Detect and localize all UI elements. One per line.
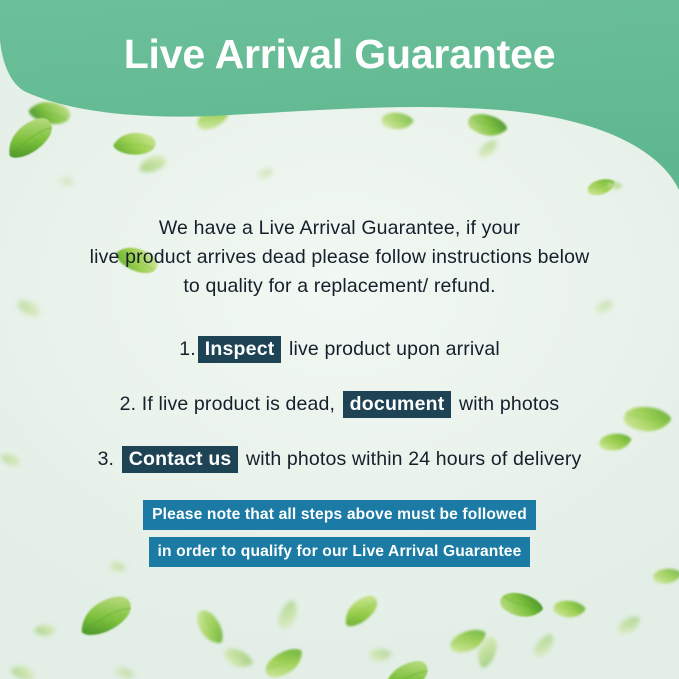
note-line-1: Please note that all steps above must be…	[143, 500, 536, 530]
note-line-2: in order to qualify for our Live Arrival…	[149, 537, 531, 567]
leaf-icon	[462, 104, 511, 145]
leaf-icon	[24, 90, 77, 137]
leaf-icon	[137, 152, 169, 176]
step-item-2: 2. If live product is dead, document wit…	[0, 377, 679, 432]
leaf-icon	[640, 119, 659, 133]
step-pre-2: If live product is dead,	[136, 393, 340, 416]
leaf-icon	[474, 136, 503, 162]
leaf-icon	[468, 631, 506, 672]
leaf-icon	[605, 178, 624, 194]
steps-list: 1. Inspect live product upon arrival 2. …	[0, 322, 679, 487]
intro-line-3: to quality for a replacement/ refund.	[70, 272, 609, 301]
step-item-1: 1. Inspect live product upon arrival	[0, 322, 679, 377]
step-number-3: 3.	[98, 448, 115, 471]
leaf-icon	[71, 587, 141, 645]
step-item-3: 3. Contact us with photos within 24 hour…	[0, 432, 679, 487]
leaf-icon	[7, 659, 39, 679]
leaf-icon	[191, 98, 237, 135]
intro-paragraph: We have a Live Arrival Guarantee, if you…	[0, 214, 679, 301]
note-banner: Please note that all steps above must be…	[0, 500, 679, 567]
step-post-1: live product upon arrival	[283, 338, 499, 361]
leaf-icon	[494, 582, 548, 629]
step-post-3: with photos within 24 hours of delivery	[240, 448, 581, 471]
leaf-icon	[255, 167, 275, 182]
leaf-icon	[585, 177, 616, 198]
live-arrival-guarantee-graphic: Live Arrival Guarantee We have a Live Ar…	[0, 0, 679, 679]
leaf-icon	[375, 652, 436, 679]
leaf-icon	[527, 629, 561, 662]
leaf-icon	[112, 662, 136, 679]
leaf-icon	[110, 127, 160, 161]
leaf-icon	[258, 641, 310, 679]
leaf-icon	[218, 639, 258, 677]
step-chip-inspect[interactable]: Inspect	[198, 336, 282, 363]
step-chip-contact-us[interactable]: Contact us	[122, 446, 239, 473]
leaf-icon	[378, 106, 417, 136]
step-post-2: with photos	[453, 393, 559, 416]
leaf-icon	[57, 174, 76, 190]
step-number-1: 1.	[179, 338, 196, 361]
step-pre-3	[114, 448, 120, 471]
leaf-icon	[614, 612, 645, 638]
leaf-icon	[258, 588, 317, 643]
intro-line-1: We have a Live Arrival Guarantee, if you…	[70, 214, 609, 243]
page-title: Live Arrival Guarantee	[0, 28, 679, 80]
leaf-icon	[335, 588, 386, 635]
leaf-icon	[651, 565, 679, 588]
step-chip-document[interactable]: document	[343, 391, 452, 418]
step-number-2: 2.	[120, 393, 137, 416]
leaf-icon	[446, 625, 490, 658]
leaf-icon	[182, 600, 239, 653]
leaf-icon	[367, 644, 394, 666]
leaf-icon	[31, 610, 59, 649]
leaf-icon	[550, 594, 589, 624]
intro-line-2: live product arrives dead please follow …	[70, 243, 609, 272]
